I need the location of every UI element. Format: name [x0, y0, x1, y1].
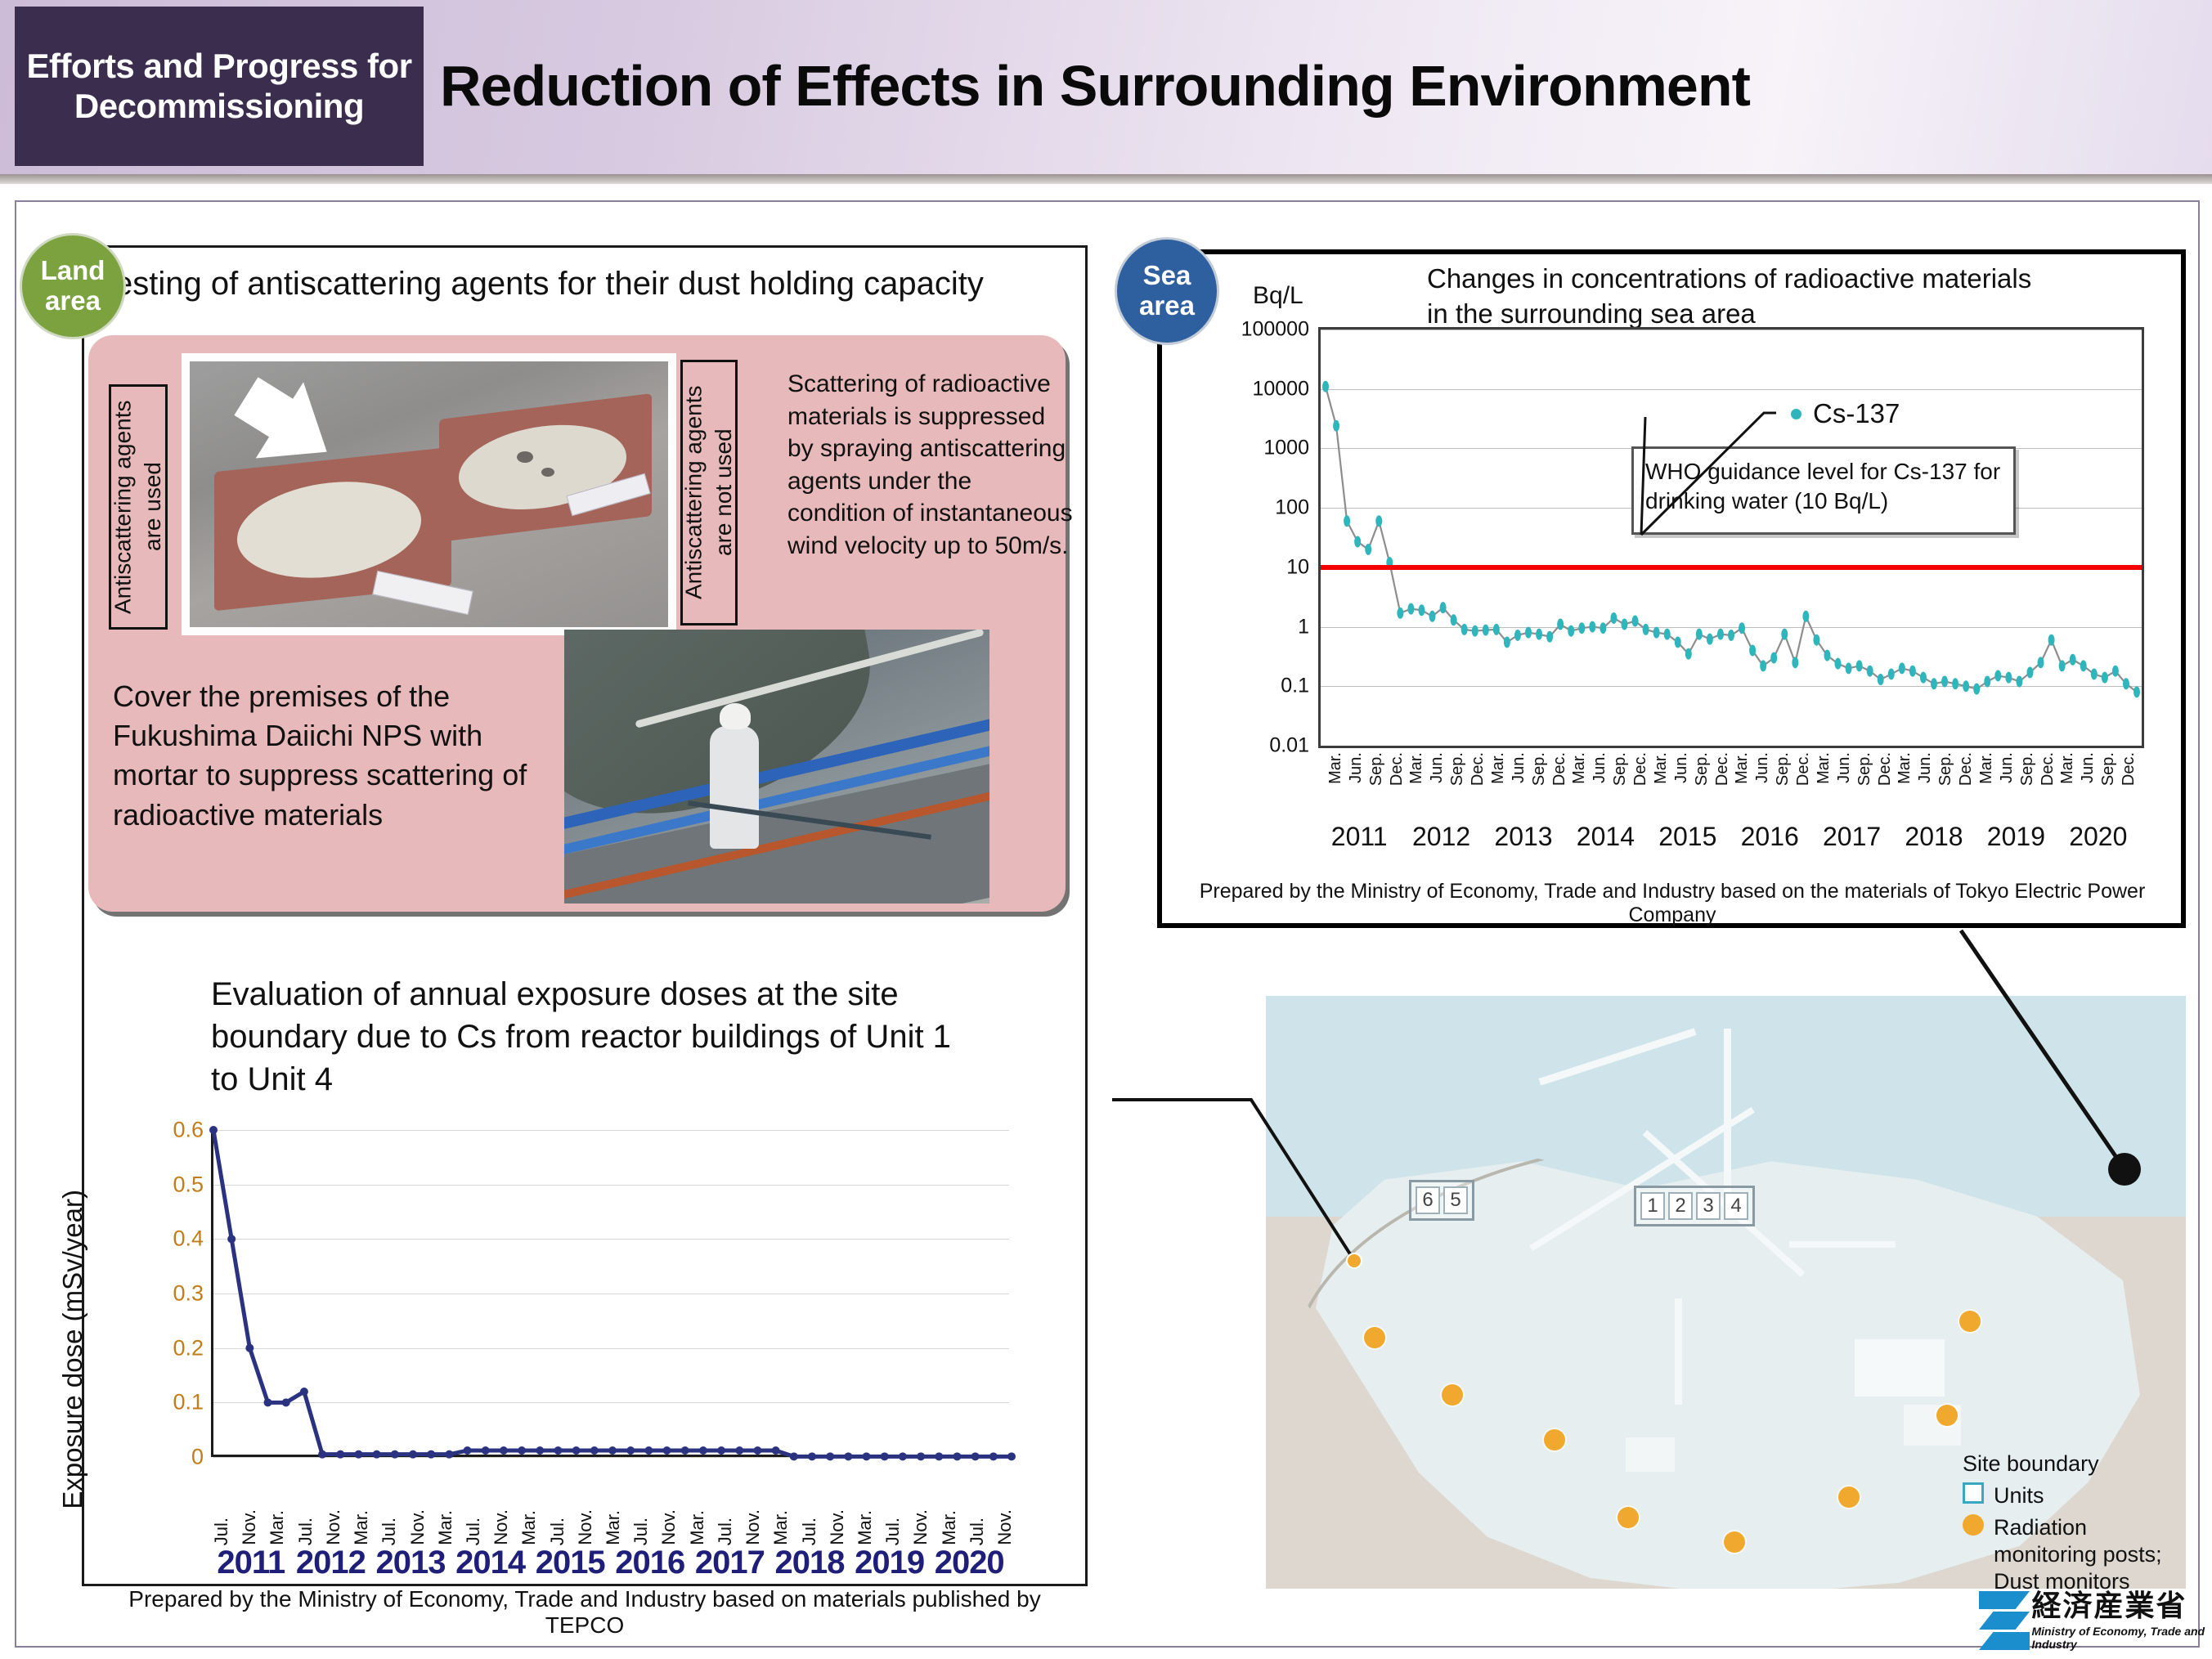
sea-xtick-label: Mar. — [1326, 752, 1345, 784]
sea-xtick-label: Sep. — [2018, 752, 2037, 786]
legend-units-row: Units — [1963, 1482, 2192, 1509]
header-category-tag: Efforts and Progress for Decommissioning — [15, 7, 424, 166]
map-unit-cell: 4 — [1724, 1192, 1748, 1220]
meti-logo: 経済産業省 Ministry of Economy, Trade and Ind… — [1979, 1590, 2212, 1652]
sea-year-label: 2011 — [1331, 822, 1388, 852]
sea-ytick-label: 100 — [1275, 496, 1309, 520]
sea-xtick-label: Jun. — [1753, 752, 1772, 783]
legend-monitors-row: Radiation monitoring posts; Dust monitor… — [1963, 1514, 2192, 1595]
dose-ytick-label: 0.2 — [173, 1335, 204, 1361]
who-guidance-line — [1321, 565, 2142, 570]
sea-chart-legend: Cs-137 — [1791, 398, 1900, 429]
dose-year-label: 2015 — [536, 1545, 605, 1581]
monitor-dot-icon — [1963, 1514, 1984, 1536]
dose-year-label: 2012 — [296, 1545, 366, 1581]
sea-chart-title: Changes in concentrations of radioactive… — [1427, 262, 2048, 332]
sea-xtick-label: Mar. — [1407, 752, 1426, 784]
dose-year-label: 2016 — [615, 1545, 684, 1581]
dose-ytick-label: 0.5 — [173, 1172, 204, 1197]
legend-site-boundary-label: Site boundary — [1963, 1451, 2192, 1477]
sea-year-label: 2016 — [1741, 822, 1799, 852]
sea-xtick-label: Jun. — [1998, 752, 2017, 783]
mortar-spraying-photo — [564, 630, 989, 903]
cs137-legend-marker — [1791, 409, 1801, 419]
sea-xtick-label: Jun. — [1510, 752, 1528, 783]
monitoring-post-dot — [1364, 1327, 1385, 1348]
sea-xtick-label: Jun. — [1428, 752, 1447, 783]
sea-chart-unit-label: Bq/L — [1253, 282, 1303, 310]
dose-chart-source: Prepared by the Ministry of Economy, Tra… — [90, 1586, 1079, 1639]
dose-year-label: 2013 — [376, 1545, 446, 1581]
map-road — [1675, 1298, 1682, 1405]
land-panel-heading: Testing of antiscattering agents for the… — [98, 266, 1071, 303]
sea-xtick-label: Sep. — [1936, 752, 1955, 786]
map-building — [1855, 1339, 1945, 1397]
sea-xtick-label: Sep. — [1530, 752, 1549, 786]
sea-xtick-label: Mar. — [1896, 752, 1914, 784]
badge-sea-area: Sea area — [1115, 237, 1219, 345]
sea-year-label: 2019 — [1987, 822, 2045, 852]
sea-xtick-label: Mar. — [1489, 752, 1508, 784]
scattering-description: Scattering of radioactive materials is s… — [787, 368, 1074, 563]
sea-chart-year-labels: 2011201220132014201520162017201820192020 — [1318, 822, 2144, 859]
sea-xtick-label: Mar. — [1570, 752, 1589, 784]
photo-debris-dot — [517, 451, 533, 463]
sea-xtick-label: Sep. — [1611, 752, 1630, 786]
sea-ytick-label: 0.01 — [1269, 734, 1309, 758]
sea-ytick-label: 100000 — [1241, 318, 1309, 342]
map-unit-cell: 1 — [1640, 1192, 1665, 1220]
sea-xtick-label: Dec. — [1388, 752, 1407, 786]
sea-series-path — [1321, 330, 2142, 746]
meti-logo-text: 経済産業省 Ministry of Economy, Trade and Ind… — [2032, 1591, 2212, 1651]
sea-year-label: 2017 — [1823, 822, 1881, 852]
sea-year-label: 2018 — [1905, 822, 1963, 852]
sea-xtick-label: Dec. — [2039, 752, 2057, 786]
sea-ytick-label: 0.1 — [1281, 675, 1309, 698]
meti-logo-en: Ministry of Economy, Trade and Industry — [2032, 1625, 2212, 1651]
sea-xtick-label: Dec. — [1876, 752, 1895, 786]
cs137-legend-label: Cs-137 — [1813, 398, 1900, 429]
sea-xtick-label: Mar. — [1977, 752, 1996, 784]
map-unit-cell: 5 — [1443, 1186, 1468, 1214]
sea-ytick-label: 1000 — [1263, 437, 1309, 460]
sea-ytick-label: 10000 — [1252, 377, 1309, 401]
meti-logo-jp: 経済産業省 — [2032, 1589, 2187, 1622]
dose-ytick-label: 0.3 — [173, 1281, 204, 1307]
sea-xtick-label: Mar. — [2058, 752, 2077, 784]
slide-root: Efforts and Progress for Decommissioning… — [0, 0, 2212, 1659]
photo-worker — [710, 726, 759, 849]
label-agents-not-used: Antiscattering agents are not used — [680, 360, 738, 625]
dose-ytick-label: 0.1 — [173, 1390, 204, 1415]
sea-xtick-label: Dec. — [1794, 752, 1813, 786]
dose-chart-year-labels: 2011201220132014201520162017201820192020 — [211, 1537, 1009, 1581]
mortar-cover-description: Cover the premises of the Fukushima Daii… — [113, 677, 554, 835]
page-title: Reduction of Effects in Surrounding Envi… — [440, 33, 2157, 139]
map-legend: Site boundary Units Radiation monitoring… — [1963, 1451, 2192, 1595]
map-unit-group-6-5: 65 — [1409, 1180, 1474, 1221]
label-agents-used: Antiscattering agents are used — [109, 384, 168, 630]
sea-xtick-label: Dec. — [1957, 752, 1976, 786]
photo-debris-dot — [541, 468, 554, 477]
monitoring-post-dot — [1442, 1384, 1463, 1406]
map-road — [1789, 1241, 1896, 1248]
dose-ytick-label: 0.4 — [173, 1226, 204, 1252]
antiscattering-test-photo — [182, 353, 676, 635]
sea-xtick-label: Jun. — [1672, 752, 1691, 783]
dose-year-label: 2014 — [455, 1545, 525, 1581]
sea-xtick-label: Jun. — [1591, 752, 1609, 783]
sea-xtick-label: Mar. — [1733, 752, 1752, 784]
sea-chart-plot: 0.010.1110100100010000100000 — [1318, 327, 2144, 748]
dose-chart-xaxis-ticks: Jul.Nov.Mar.Jul.Nov.Mar.Jul.Nov.Mar.Jul.… — [211, 1464, 1009, 1545]
dose-year-label: 2011 — [217, 1545, 285, 1581]
legend-units-label: Units — [1994, 1482, 2044, 1509]
dose-chart-title: Evaluation of annual exposure doses at t… — [211, 973, 963, 1101]
sea-year-label: 2020 — [2069, 822, 2127, 852]
map-pointer-dot — [2108, 1153, 2141, 1186]
sea-chart-source: Prepared by the Ministry of Economy, Tra… — [1165, 880, 2179, 927]
sea-xtick-label: Sep. — [2099, 752, 2118, 786]
legend-monitors-label: Radiation monitoring posts; Dust monitor… — [1994, 1514, 2192, 1595]
sea-ytick-label: 10 — [1286, 555, 1309, 579]
sea-xtick-label: Dec. — [1469, 752, 1487, 786]
map-building — [1626, 1437, 1675, 1472]
dose-year-label: 2019 — [855, 1545, 924, 1581]
meti-mark-icon — [1979, 1590, 2021, 1652]
monitoring-post-dot — [1724, 1531, 1745, 1553]
sea-xtick-label: Mar. — [1815, 752, 1833, 784]
sea-xtick-label: Dec. — [2120, 752, 2138, 786]
monitoring-post-dot — [1936, 1405, 1958, 1426]
sea-xtick-label: Sep. — [1367, 752, 1386, 786]
who-guidance-callout: WHO guidance level for Cs-137 for drinki… — [1631, 446, 2016, 535]
sea-xtick-label: Jun. — [2079, 752, 2098, 783]
sea-xtick-label: Sep. — [1855, 752, 1874, 786]
sea-xtick-label: Jun. — [1916, 752, 1935, 783]
dose-chart-plot: 00.10.20.30.40.50.6 — [211, 1130, 1009, 1457]
sea-year-label: 2014 — [1577, 822, 1635, 852]
dose-year-label: 2020 — [935, 1545, 1004, 1581]
sea-xtick-label: Mar. — [1652, 752, 1671, 784]
sea-year-label: 2013 — [1494, 822, 1552, 852]
sea-xtick-label: Jun. — [1835, 752, 1854, 783]
sea-xtick-label: Sep. — [1448, 752, 1467, 786]
monitoring-post-dot — [1617, 1507, 1639, 1528]
dose-ytick-label: 0 — [191, 1445, 204, 1470]
sea-ytick-label: 1 — [1298, 615, 1309, 639]
dose-year-label: 2017 — [695, 1545, 765, 1581]
sea-xtick-label: Dec. — [1713, 752, 1732, 786]
sea-xtick-label: Dec. — [1550, 752, 1569, 786]
badge-land-area: Land area — [20, 233, 126, 339]
dose-year-label: 2018 — [775, 1545, 845, 1581]
sea-year-label: 2015 — [1658, 822, 1716, 852]
sea-xtick-label: Dec. — [1631, 752, 1650, 786]
map-unit-cell: 6 — [1416, 1186, 1440, 1214]
map-road — [1724, 1029, 1731, 1200]
dose-ytick-label: 0.6 — [173, 1118, 204, 1143]
sea-xtick-label: Jun. — [1347, 752, 1366, 783]
sea-year-label: 2012 — [1412, 822, 1470, 852]
monitoring-post-dot — [1959, 1311, 1981, 1332]
map-pointer-dot-small — [1346, 1253, 1362, 1269]
monitoring-post-dot — [1544, 1429, 1565, 1451]
map-unit-group-1-4: 1234 — [1634, 1186, 1755, 1226]
dose-series-path — [213, 1130, 1012, 1457]
map-unit-cell: 3 — [1696, 1192, 1721, 1220]
unit-square-icon — [1963, 1482, 1984, 1504]
sea-xtick-label: Sep. — [1774, 752, 1792, 786]
map-unit-cell: 2 — [1668, 1192, 1693, 1220]
sea-chart-xaxis-ticks: Mar.Jun.Sep.Dec.Mar.Jun.Sep.Dec.Mar.Jun.… — [1318, 752, 2144, 818]
sea-xtick-label: Sep. — [1693, 752, 1712, 786]
monitoring-post-dot — [1838, 1486, 1860, 1508]
